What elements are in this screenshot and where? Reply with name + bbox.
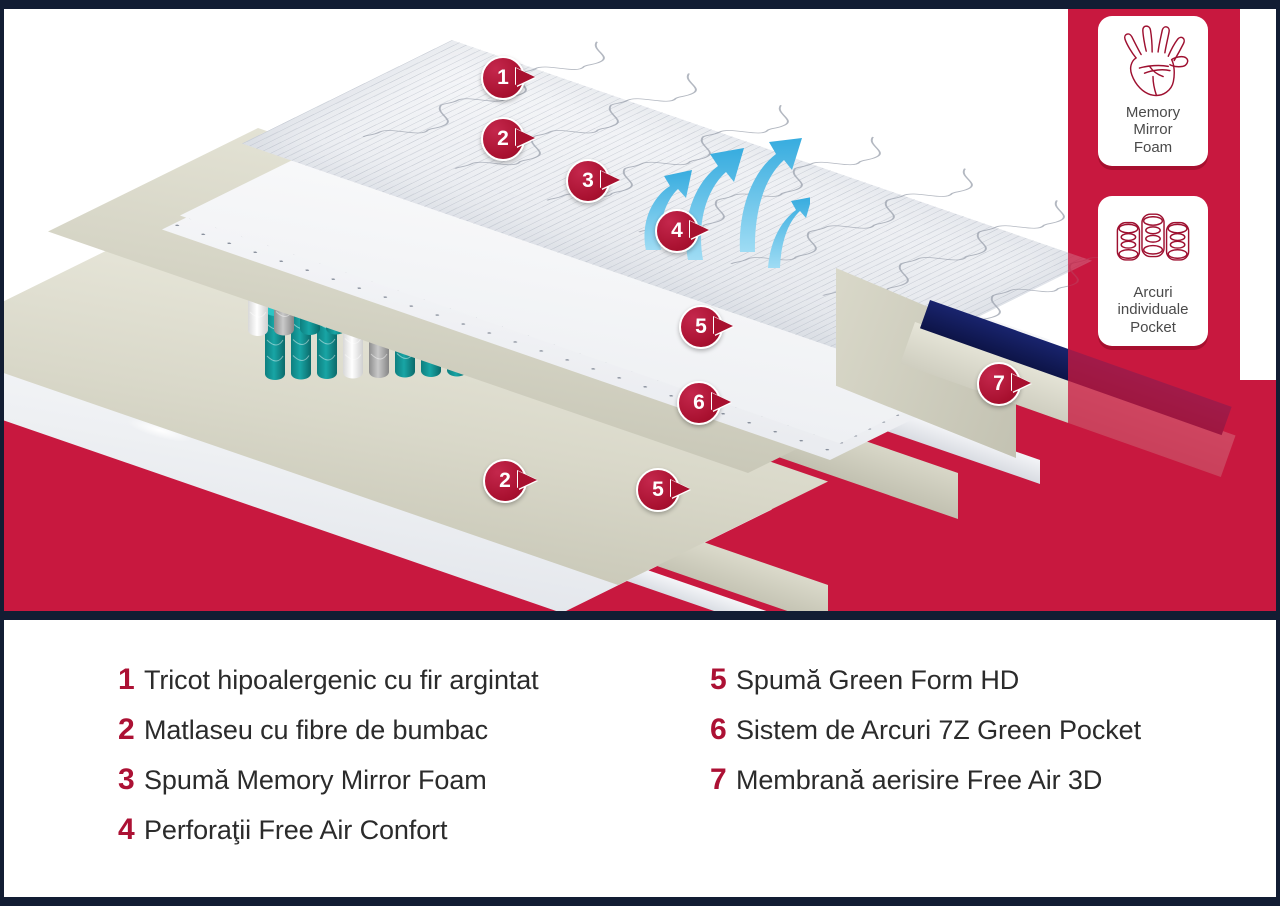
callout-marker-air-membrane: 7 <box>977 362 1021 406</box>
callout-marker-green-form-lower: 5 <box>636 468 680 512</box>
legend-column-left: 1Tricot hipoalergenic cu fir argintat2Ma… <box>118 663 678 863</box>
callout-marker-pocket-springs: 6 <box>677 381 721 425</box>
legend-item: 2Matlaseu cu fibre de bumbac <box>118 713 678 747</box>
callout-marker-memory-foam: 3 <box>566 159 610 203</box>
badge-pocket-label: Arcuri individuale Pocket <box>1118 284 1189 336</box>
mattress-cutaway-infographic: 123456725 Memory Mirror <box>0 0 1280 906</box>
legend-item: 6Sistem de Arcuri 7Z Green Pocket <box>710 713 1230 747</box>
legend-item-number: 4 <box>118 813 144 847</box>
badge-arcuri-individuale-pocket[interactable]: Arcuri individuale Pocket <box>1098 196 1208 346</box>
legend-item-label: Spumă Green Form HD <box>736 665 1019 696</box>
stage-bottom-navy-divider <box>0 611 1280 620</box>
legend-item: 1Tricot hipoalergenic cu fir argintat <box>118 663 678 697</box>
illustration-stage: 123456725 Memory Mirror <box>0 0 1280 620</box>
legend-column-right: 5Spumă Green Form HD6Sistem de Arcuri 7Z… <box>710 663 1230 813</box>
badge-memory-label: Memory Mirror Foam <box>1126 104 1180 156</box>
pocket-springs-icon <box>1110 204 1196 282</box>
legend-item-label: Membrană aerisire Free Air 3D <box>736 765 1102 796</box>
legend-item: 3Spumă Memory Mirror Foam <box>118 763 678 797</box>
legend-item-number: 7 <box>710 763 736 797</box>
callout-marker-perforations: 4 <box>655 209 699 253</box>
legend-item-number: 6 <box>710 713 736 747</box>
legend-item-number: 1 <box>118 663 144 697</box>
legend-item-number: 2 <box>118 713 144 747</box>
legend-item-label: Sistem de Arcuri 7Z Green Pocket <box>736 715 1141 746</box>
badge-memory-mirror-foam[interactable]: Memory Mirror Foam <box>1098 16 1208 166</box>
hand-print-icon <box>1110 24 1196 102</box>
callout-marker-cotton-quilt-bottom: 2 <box>483 459 527 503</box>
legend-item-label: Tricot hipoalergenic cu fir argintat <box>144 665 539 696</box>
airflow-arrows-icon <box>630 100 810 270</box>
legend-item: 5Spumă Green Form HD <box>710 663 1230 697</box>
legend-item-number: 3 <box>118 763 144 797</box>
callout-marker-green-form-upper: 5 <box>679 305 723 349</box>
legend-item: 4Perforaţii Free Air Confort <box>118 813 678 847</box>
legend-panel: 1Tricot hipoalergenic cu fir argintat2Ma… <box>0 629 1280 906</box>
callout-marker-cotton-quilt-top: 2 <box>481 117 525 161</box>
legend-item-number: 5 <box>710 663 736 697</box>
callout-marker-knit-cover: 1 <box>481 56 525 100</box>
legend-item-label: Matlaseu cu fibre de bumbac <box>144 715 488 746</box>
legend-item-label: Perforaţii Free Air Confort <box>144 815 447 846</box>
legend-item: 7Membrană aerisire Free Air 3D <box>710 763 1230 797</box>
legend-item-label: Spumă Memory Mirror Foam <box>144 765 487 796</box>
